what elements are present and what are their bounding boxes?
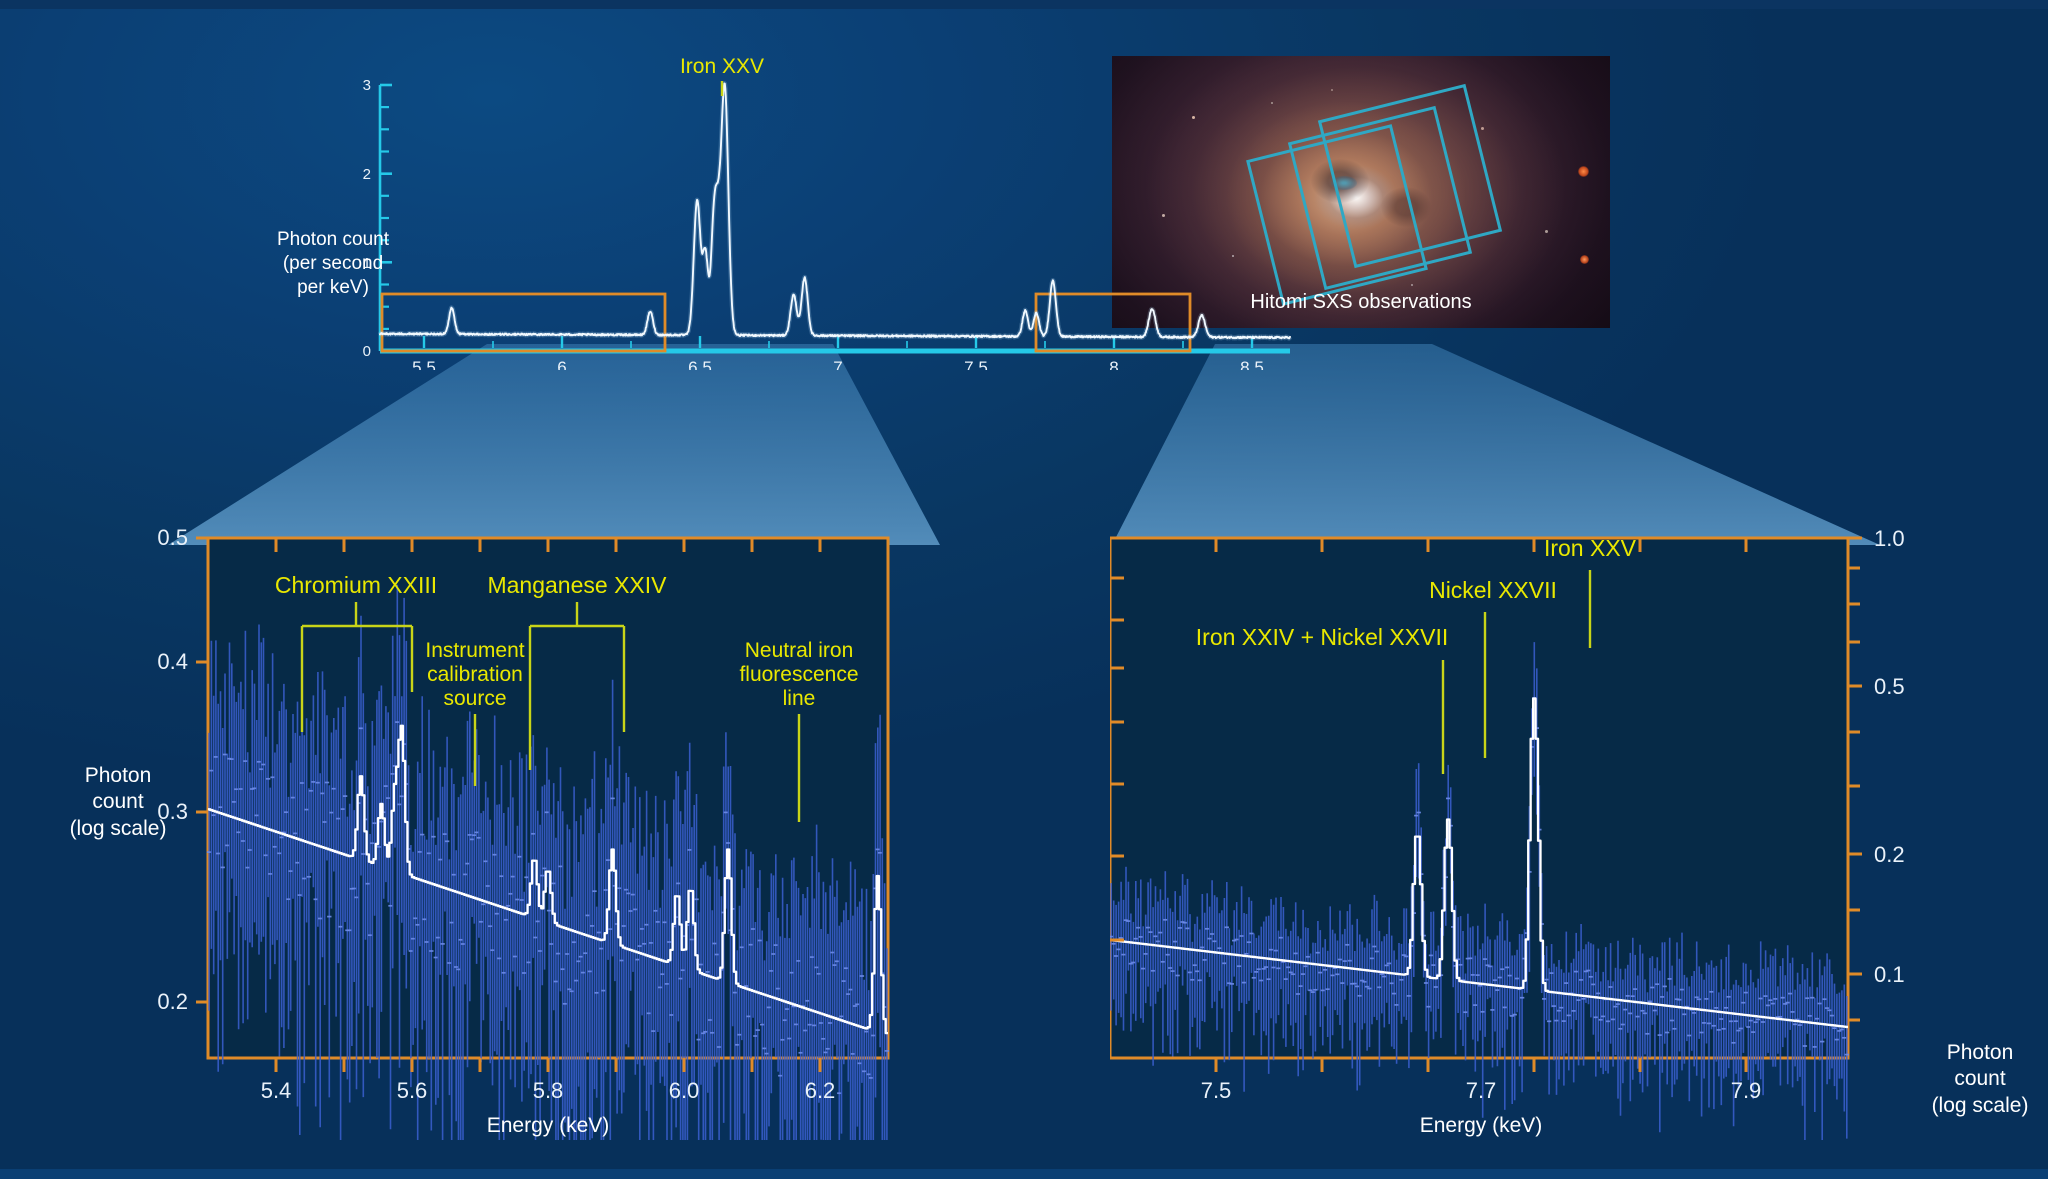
main-ytick-2: 2 bbox=[363, 166, 371, 183]
annotation-label-line-0: Instrument bbox=[425, 639, 524, 662]
annotation-label-line-1: calibration bbox=[427, 663, 523, 686]
left-panel-bottom-ticks bbox=[276, 1058, 820, 1072]
left-panel-x-axis-label: Energy (keV) bbox=[487, 1114, 610, 1137]
main-spectrum-curve bbox=[380, 83, 1290, 338]
right-inset-chart: 1.0 0.5 0.2 0.1 7.5 7.7 7.9 Energy (keV)… bbox=[1110, 520, 1920, 1140]
left-panel-y-ticks bbox=[196, 538, 208, 1002]
left-xtick-4: 6.2 bbox=[805, 1078, 836, 1103]
main-xtick-4: 7.5 bbox=[964, 358, 988, 370]
right-xtick-1: 7.7 bbox=[1466, 1078, 1497, 1103]
left-xtick-2: 5.8 bbox=[533, 1078, 564, 1103]
figure-canvas: Hitomi SXS observations 0 1 2 3 bbox=[0, 0, 2048, 1179]
left-ytick-0: 0.5 bbox=[157, 525, 188, 550]
left-ytick-1: 0.4 bbox=[157, 649, 188, 674]
left-y-axis-label-line-1: count bbox=[48, 789, 188, 815]
right-xtick-0: 7.5 bbox=[1201, 1078, 1232, 1103]
left-panel-y-axis-label: Photon count (log scale) bbox=[48, 763, 188, 842]
main-xtick-6: 8.5 bbox=[1240, 358, 1264, 370]
right-xtick-2: 7.9 bbox=[1731, 1078, 1762, 1103]
left-xtick-1: 5.6 bbox=[397, 1078, 428, 1103]
left-xtick-0: 5.4 bbox=[261, 1078, 292, 1103]
annotation-label: Iron XXIV + Nickel XXVII bbox=[1196, 624, 1448, 650]
top-strip bbox=[0, 0, 2048, 9]
right-panel-y-axis-label: Photon count (log scale) bbox=[1905, 1040, 2048, 1119]
main-xtick-3: 7 bbox=[833, 358, 842, 370]
main-xtick-1: 6 bbox=[557, 358, 566, 370]
left-panel-plot-bg bbox=[208, 538, 888, 1058]
main-xtick-2: 6.5 bbox=[688, 358, 712, 370]
left-inset-chart: 0.5 0.4 0.3 0.2 5.4 5.6 5.8 6.0 6.2 bbox=[150, 520, 960, 1140]
main-y-axis-label-line-2: per keV) bbox=[268, 276, 398, 300]
left-y-axis-label-line-2: (log scale) bbox=[48, 816, 188, 842]
right-ytick-3: 0.1 bbox=[1874, 962, 1905, 987]
main-y-axis-label-line-0: Photon count bbox=[268, 228, 398, 252]
left-xtick-3: 6.0 bbox=[669, 1078, 700, 1103]
annotation-label: Nickel XXVII bbox=[1429, 577, 1557, 603]
main-spectrum-chart: 0 1 2 3 bbox=[330, 40, 1330, 370]
right-ytick-2: 0.2 bbox=[1874, 842, 1905, 867]
right-panel-x-tick-labels: 7.5 7.7 7.9 bbox=[1201, 1078, 1762, 1103]
main-y-axis-label-line-1: (per second bbox=[268, 252, 398, 276]
annotation-label-line-2: line bbox=[783, 687, 816, 710]
main-xtick-5: 8 bbox=[1109, 358, 1118, 370]
right-y-axis-label-line-2: (log scale) bbox=[1905, 1093, 2048, 1119]
main-y-axis: 0 1 2 3 bbox=[363, 77, 392, 360]
right-ytick-1: 0.5 bbox=[1874, 674, 1905, 699]
annotation-label: Manganese XXIV bbox=[487, 572, 667, 598]
right-panel-y-tick-labels: 1.0 0.5 0.2 0.1 bbox=[1874, 526, 1905, 987]
main-x-tick-labels: 5.5 6 6.5 7 7.5 8 8.5 bbox=[412, 358, 1264, 370]
right-y-axis-label-line-1: count bbox=[1905, 1066, 2048, 1092]
annotation-label: Chromium XXIII bbox=[275, 572, 437, 598]
main-xtick-0: 5.5 bbox=[412, 358, 436, 370]
annotation-label-line-2: source bbox=[443, 687, 506, 710]
left-ytick-3: 0.2 bbox=[157, 989, 188, 1014]
annotation-label-line-1: fluorescence bbox=[739, 663, 858, 686]
main-ytick-0: 0 bbox=[363, 343, 371, 360]
right-ytick-0: 1.0 bbox=[1874, 526, 1905, 551]
left-y-axis-label-line-0: Photon bbox=[48, 763, 188, 789]
right-y-axis-label-line-0: Photon bbox=[1905, 1040, 2048, 1066]
annotation-label: Iron XXV bbox=[680, 55, 764, 78]
right-panel-plot-bg bbox=[1110, 538, 1848, 1058]
right-panel-y-ticks bbox=[1848, 538, 1862, 1020]
right-panel-x-axis-label: Energy (keV) bbox=[1420, 1114, 1543, 1137]
bottom-strip bbox=[0, 1169, 2048, 1179]
annotation-label-line-0: Neutral iron bbox=[745, 639, 854, 662]
annotation-iron-xxv-main: Iron XXV bbox=[680, 55, 764, 96]
main-y-axis-label: Photon count (per second per keV) bbox=[268, 228, 398, 299]
main-ytick-3: 3 bbox=[363, 77, 371, 94]
annotation-label: Iron XXV bbox=[1544, 535, 1637, 561]
